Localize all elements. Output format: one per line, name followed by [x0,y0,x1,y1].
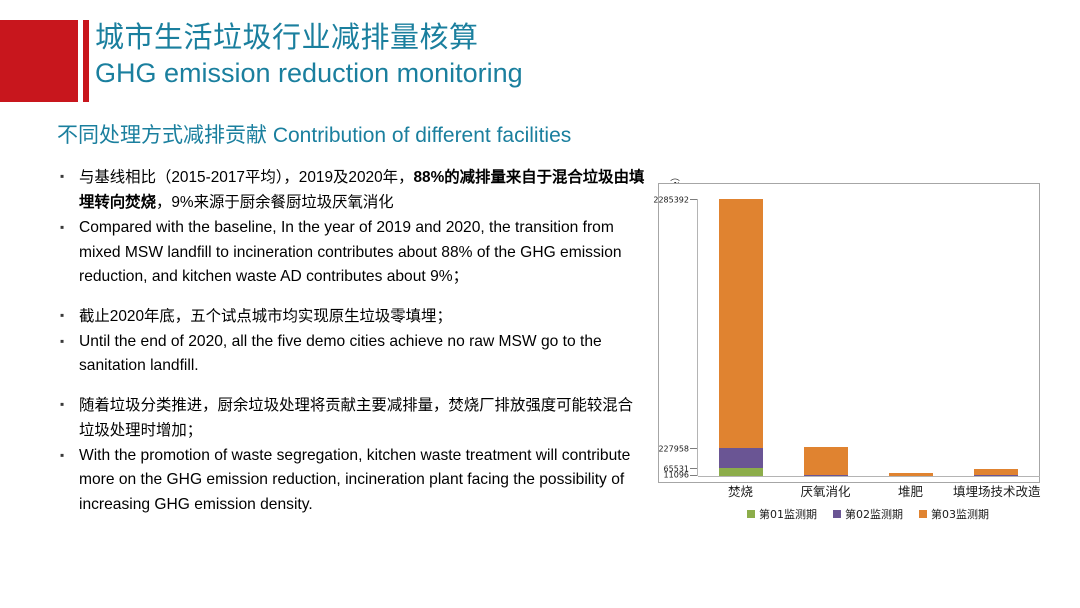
chart-bar-segment [889,473,933,476]
bullet-item: With the promotion of waste segregation,… [57,444,647,518]
chart-legend-swatch [747,510,755,518]
chart-ytick-label: 227958 [658,444,689,453]
chart-xaxis-label: 填埋场技术改造 [953,481,1038,500]
bullet-group: 与基线相比（2015-2017平均），2019及2020年，88%的减排量来自于… [57,165,647,290]
chart-legend-label: 第01监测期 [759,506,817,522]
bullet-text: Until the end of 2020, all the five demo… [79,333,602,375]
chart-plot-frame: 第01监测期第02监测期第03监测期 焚烧厌氧消化堆肥填埋场技术改造228539… [658,183,1040,483]
chart-legend-swatch [919,510,927,518]
bullet-text: 截止2020年底，五个试点城市均实现原生垃圾零填埋； [79,308,452,325]
chart-legend: 第01监测期第02监测期第03监测期 [677,506,1059,522]
chart-bar-segment [719,468,763,476]
page-title-cn: 城市生活垃圾行业减排量核算 [95,20,895,56]
bullet-item: 随着垃圾分类推进，厨余垃圾处理将贡献主要减排量，焚烧厂排放强度可能较混合垃圾处理… [57,393,647,443]
chart-bar-2 [804,447,848,476]
chart-xaxis-label: 厌氧消化 [783,481,868,500]
red-accent-rule [83,20,89,102]
bullet-item: 与基线相比（2015-2017平均），2019及2020年，88%的减排量来自于… [57,165,647,215]
section-subtitle: 不同处理方式减排贡献 Contribution of different fac… [57,119,571,149]
chart-ytick: 11096 [690,475,697,476]
bullet-text: Compared with the baseline, In the year … [79,219,622,285]
chart-bar-3 [889,473,933,476]
chart-ytick-label: 11096 [664,471,689,480]
red-accent-block [0,20,78,102]
chart-bar-4 [974,469,1018,476]
chart-panel: 不同垃圾处理/处置类型减排总量（tCO2 e） 第01监测期第02监测期第03监… [640,176,1060,526]
chart-legend-swatch [833,510,841,518]
chart-legend-label: 第03监测期 [931,506,989,522]
bullet-item: 截止2020年底，五个试点城市均实现原生垃圾零填埋； [57,304,647,329]
page-title-en: GHG emission reduction monitoring [95,56,895,90]
bullet-text: ，9%来源于厨余餐厨垃圾厌氧消化 [156,194,394,211]
chart-xaxis-label: 焚烧 [698,481,783,500]
bullet-item: Compared with the baseline, In the year … [57,216,647,290]
chart-legend-item: 第03监测期 [919,506,989,522]
chart-bar-segment [719,199,763,448]
chart-bar-1 [719,199,763,476]
chart-xaxis-label: 堆肥 [868,481,953,500]
chart-legend-item: 第01监测期 [747,506,817,522]
slide-header: 城市生活垃圾行业减排量核算 GHG emission reduction mon… [0,0,1080,112]
chart-ytick: 227958 [690,448,697,449]
bullet-list: 与基线相比（2015-2017平均），2019及2020年，88%的减排量来自于… [57,165,647,518]
bullet-text: With the promotion of waste segregation,… [79,447,630,513]
bullet-item: Until the end of 2020, all the five demo… [57,330,647,379]
chart-bar-segment [804,447,848,475]
title-group: 城市生活垃圾行业减排量核算 GHG emission reduction mon… [95,20,895,90]
chart-ytick-label: 2285392 [653,195,689,204]
chart-plot-area [698,199,1038,476]
chart-legend-label: 第02监测期 [845,506,903,522]
chart-ytick: 65531 [690,468,697,469]
chart-ytick: 2285392 [690,199,697,200]
chart-bar-segment [974,475,1018,477]
chart-legend-item: 第02监测期 [833,506,903,522]
chart-xaxis-line [698,476,1040,477]
bullet-group: 截止2020年底，五个试点城市均实现原生垃圾零填埋；Until the end … [57,304,647,379]
chart-bar-segment [804,475,848,477]
bullet-text: 与基线相比（2015-2017平均），2019及2020年， [79,169,413,186]
bullet-group: 随着垃圾分类推进，厨余垃圾处理将贡献主要减排量，焚烧厂排放强度可能较混合垃圾处理… [57,393,647,518]
chart-bar-segment [719,448,763,468]
bullet-text: 随着垃圾分类推进，厨余垃圾处理将贡献主要减排量，焚烧厂排放强度可能较混合垃圾处理… [79,397,633,439]
